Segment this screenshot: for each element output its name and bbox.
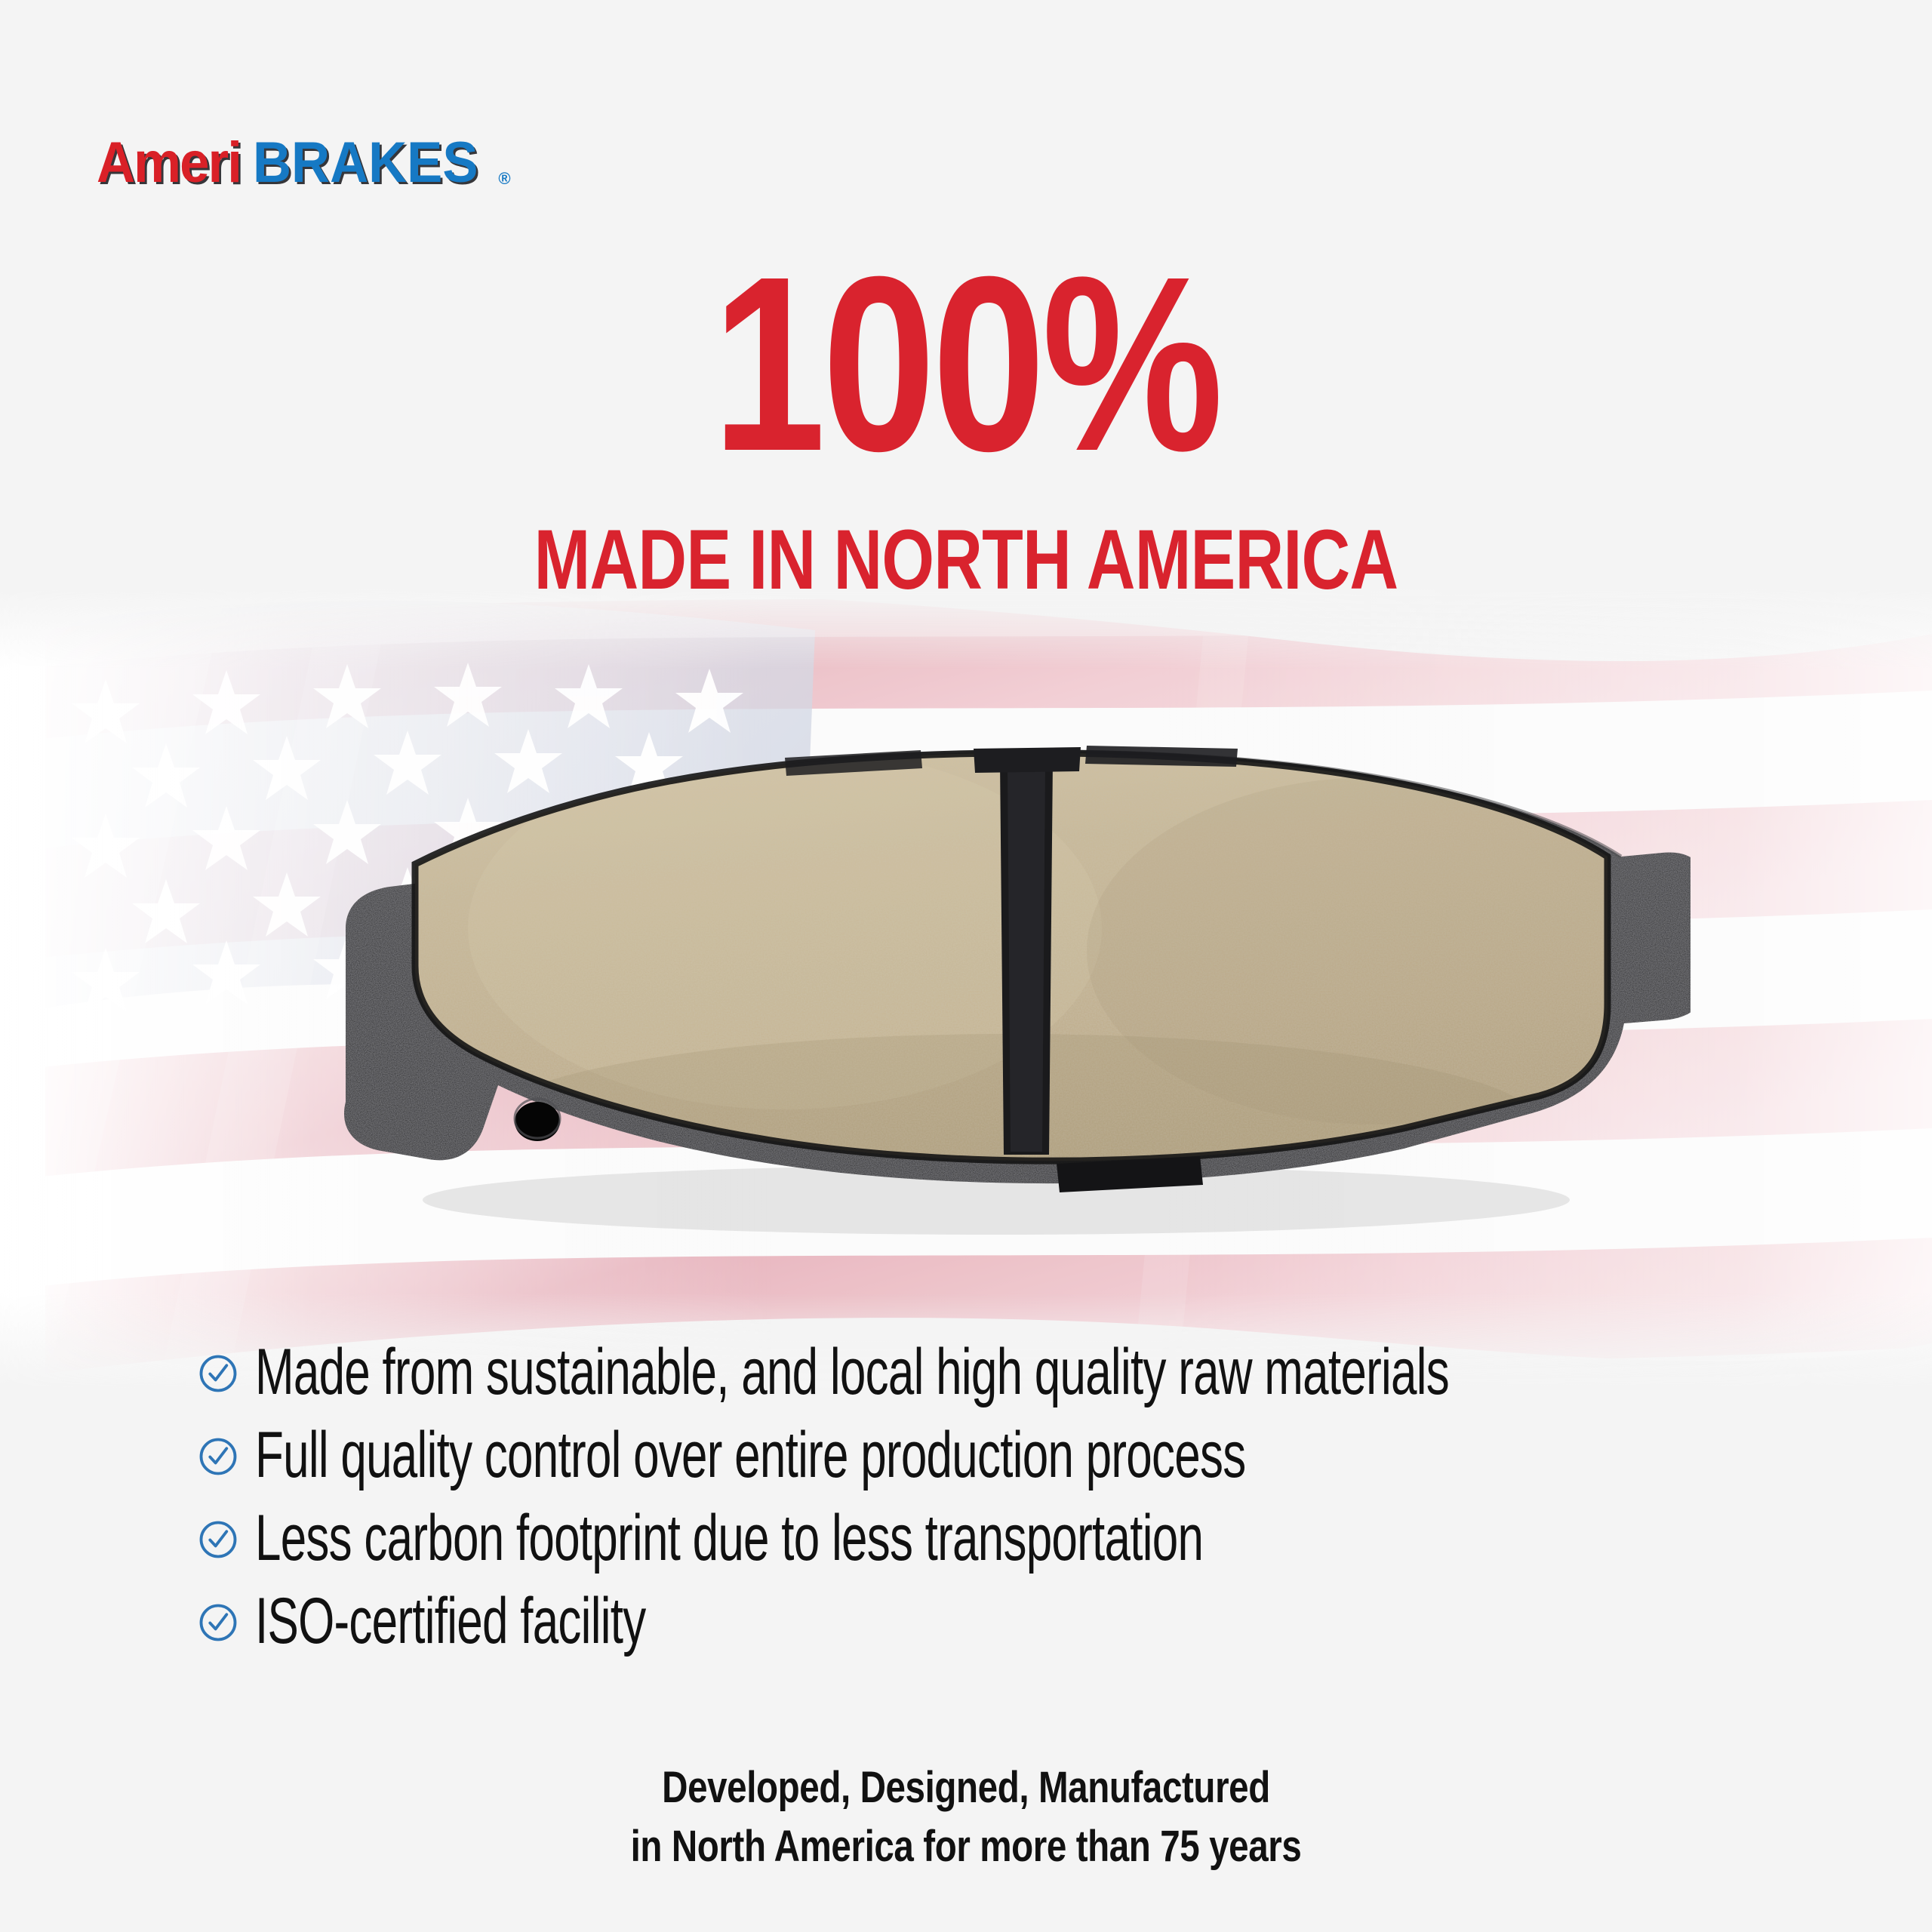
check-circle-icon xyxy=(198,1436,238,1477)
list-item-label: Made from sustainable, and local high qu… xyxy=(255,1340,1449,1404)
list-item-label: ISO-certified facility xyxy=(255,1589,646,1654)
list-item-label: Less carbon footprint due to less transp… xyxy=(255,1506,1203,1571)
mounting-hole xyxy=(515,1099,560,1141)
brake-pad-graphic xyxy=(257,702,1690,1275)
footer-line-2: in North America for more than 75 years xyxy=(174,1817,1758,1876)
product-marketing-poster: Ameri BRAKES ® 100% MADE IN NORTH AMERIC… xyxy=(0,0,1932,1932)
check-circle-icon xyxy=(198,1519,238,1560)
list-item: Full quality control over entire product… xyxy=(198,1420,1783,1490)
check-circle-icon xyxy=(198,1353,238,1394)
logo-text-ameri: Ameri xyxy=(97,134,241,192)
footer-tagline: Developed, Designed, Manufactured in Nor… xyxy=(0,1758,1932,1877)
list-item: ISO-certified facility xyxy=(198,1586,1783,1656)
brand-logo[interactable]: Ameri BRAKES ® xyxy=(97,134,511,192)
product-image-brake-pad xyxy=(257,702,1690,1275)
footer-line-1: Developed, Designed, Manufactured xyxy=(174,1758,1758,1817)
check-circle-icon xyxy=(198,1602,238,1643)
benefits-list: Made from sustainable, and local high qu… xyxy=(198,1337,1783,1669)
headline-percent: 100% xyxy=(174,249,1758,478)
list-item-label: Full quality control over entire product… xyxy=(255,1423,1245,1487)
list-item: Made from sustainable, and local high qu… xyxy=(198,1337,1783,1407)
logo-text-brakes: BRAKES xyxy=(253,134,478,192)
list-item: Less carbon footprint due to less transp… xyxy=(198,1503,1783,1573)
registered-trademark-icon: ® xyxy=(498,171,510,192)
headline-subtitle: MADE IN NORTH AMERICA xyxy=(193,518,1739,602)
